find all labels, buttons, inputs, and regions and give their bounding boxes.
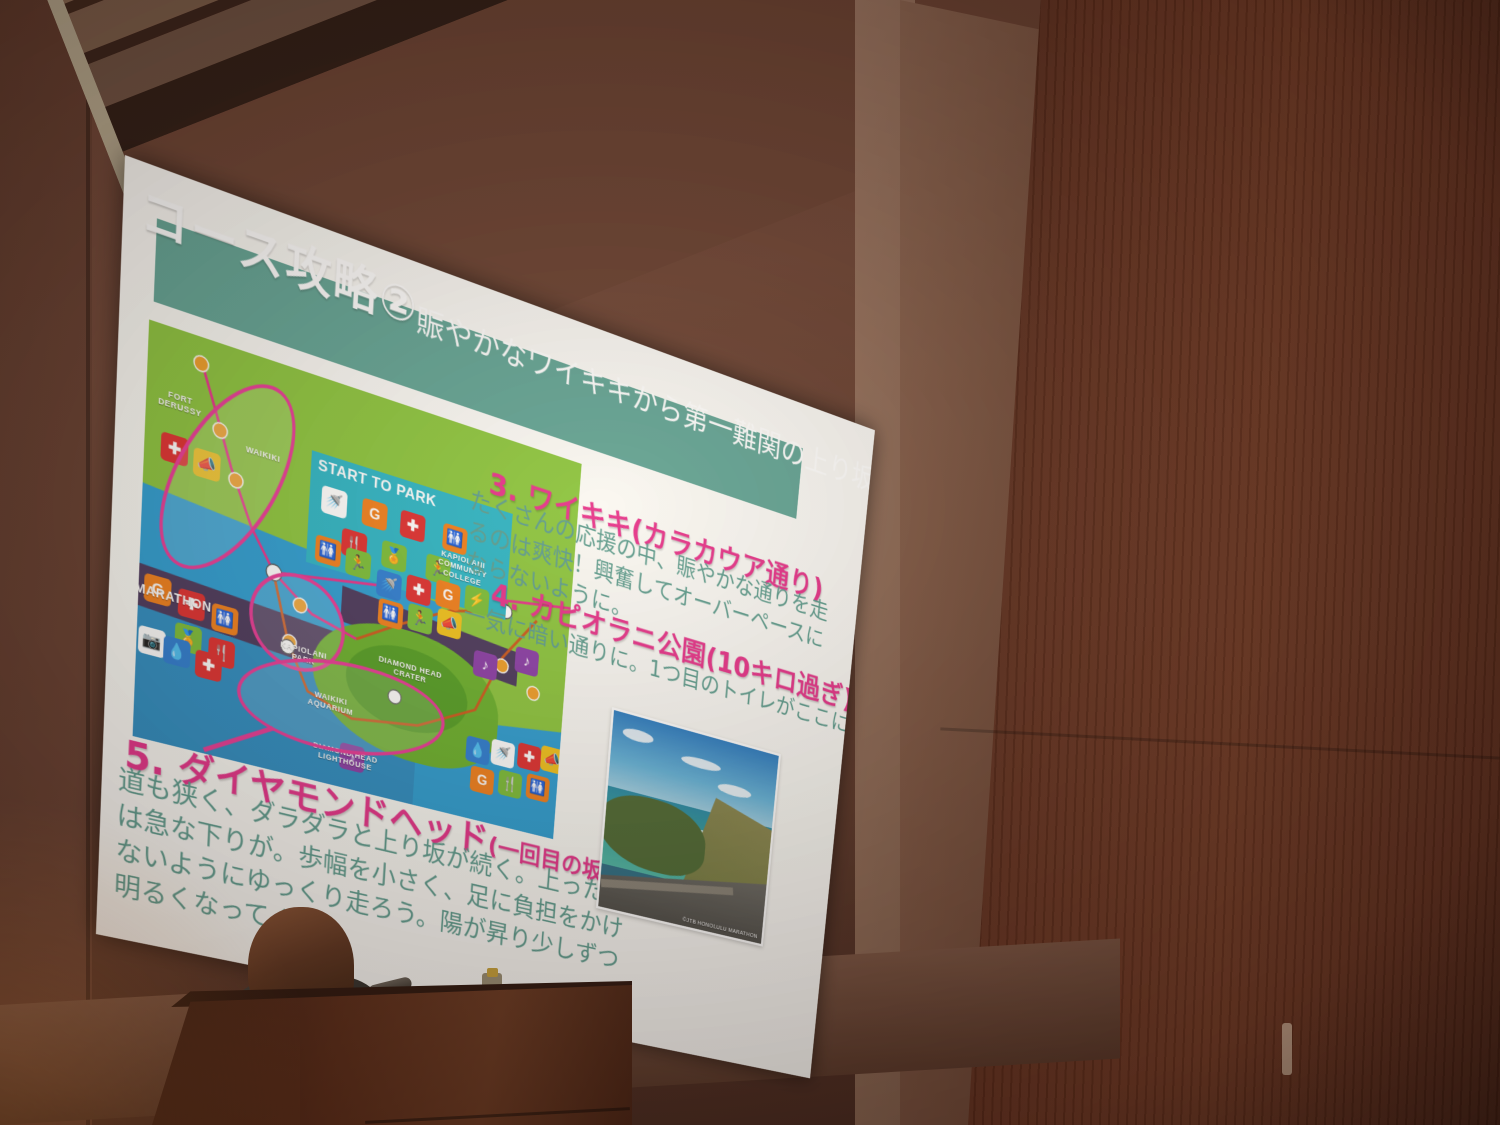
gatorade-icon: G <box>361 497 388 531</box>
podium <box>152 985 632 1125</box>
medal-icon: 🏅 <box>381 540 407 574</box>
shower-icon: 🚿 <box>321 485 348 520</box>
projection-screen-wrap: コース攻略② 賑やかなワイキキから第一難関の上り坂 <box>0 0 1500 1125</box>
diamond-head-photo: ©JTB HONOLULU MARATHON <box>596 707 781 947</box>
projection-screen: コース攻略② 賑やかなワイキキから第一難関の上り坂 <box>96 155 875 1078</box>
water-bottle-cap <box>487 968 498 977</box>
slide-content: コース攻略② 賑やかなワイキキから第一難関の上り坂 <box>96 155 875 1078</box>
presentation-room-scene: コース攻略② 賑やかなワイキキから第一難関の上り坂 <box>0 0 1500 1125</box>
first-aid-icon: ✚ <box>400 509 426 543</box>
